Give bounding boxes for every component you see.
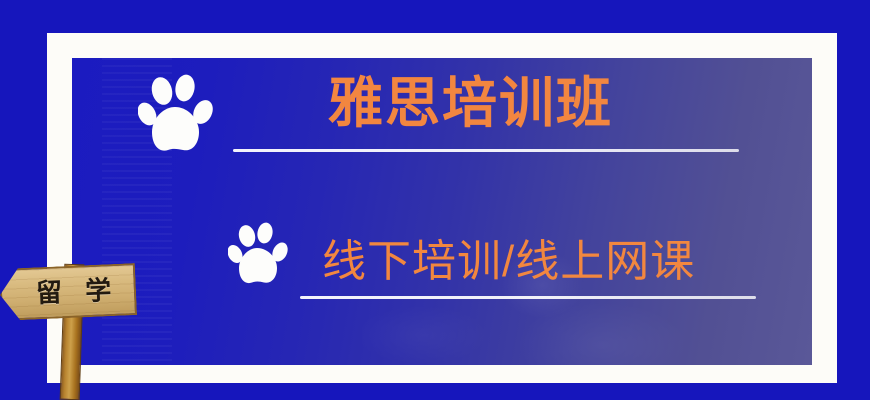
signpost-label: 留 学 <box>35 276 132 306</box>
promo-banner: 雅思培训班 线下培训/线上网课 留 学 <box>0 0 870 400</box>
subtitle: 线下培训/线上网课 <box>322 240 695 284</box>
paw-print-icon <box>138 74 216 159</box>
subtitle-divider-line <box>300 296 756 299</box>
page-title: 雅思培训班 <box>328 76 613 131</box>
wooden-signpost-icon: 留 学 <box>0 258 150 400</box>
title-divider-line <box>233 149 739 152</box>
paw-print-icon <box>228 222 290 290</box>
